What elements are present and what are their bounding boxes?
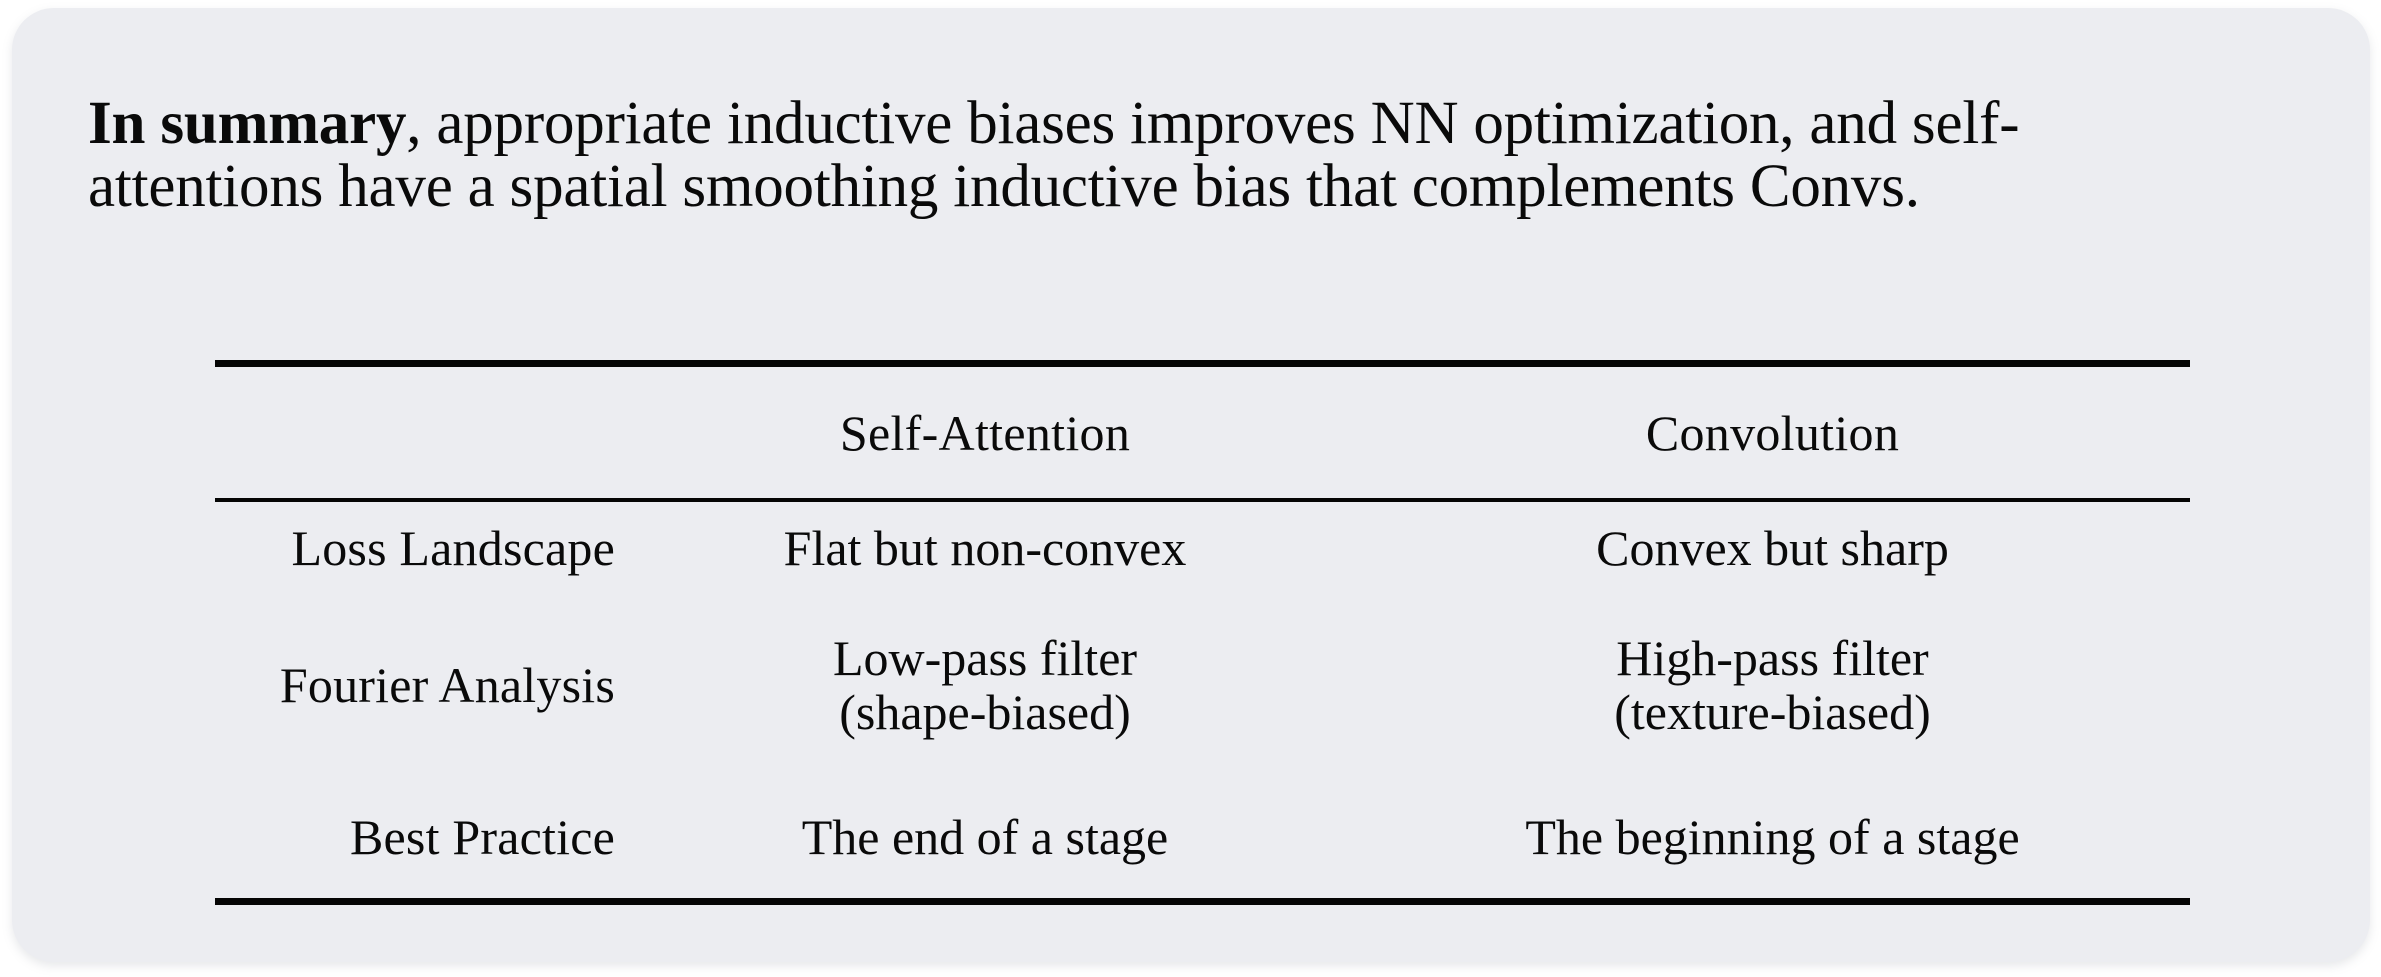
table-row: Loss Landscape Flat but non-convex Conve… bbox=[215, 500, 2190, 594]
row-label-best-practice: Best Practice bbox=[215, 776, 615, 902]
cell-sub-text: (shape-biased) bbox=[615, 685, 1355, 739]
table-bottom-rule-cell bbox=[215, 902, 615, 906]
summary-paragraph: In summary, appropriate inductive biases… bbox=[88, 93, 2138, 219]
comparison-table: Self-Attention Convolution Loss Landscap… bbox=[215, 360, 2190, 905]
column-header-self-attention: Self-Attention bbox=[615, 364, 1355, 501]
table-header: Self-Attention Convolution bbox=[215, 364, 2190, 501]
table-row: Best Practice The end of a stage The beg… bbox=[215, 776, 2190, 902]
table-bottom-rule bbox=[215, 902, 2190, 906]
table-bottom-rule-cell bbox=[1355, 902, 2190, 906]
cell-loss-landscape-self-attention: Flat but non-convex bbox=[615, 500, 1355, 594]
cell-fourier-analysis-self-attention: Low-pass filter (shape-biased) bbox=[615, 594, 1355, 776]
column-header-convolution: Convolution bbox=[1355, 364, 2190, 501]
column-header-blank bbox=[215, 364, 615, 501]
cell-main-text: Low-pass filter bbox=[833, 630, 1137, 686]
cell-best-practice-convolution: The beginning of a stage bbox=[1355, 776, 2190, 902]
cell-main-text: High-pass filter bbox=[1616, 630, 1928, 686]
table-header-row: Self-Attention Convolution bbox=[215, 364, 2190, 501]
cell-sub-text: (texture-biased) bbox=[1355, 685, 2190, 739]
row-label-fourier-analysis: Fourier Analysis bbox=[215, 594, 615, 776]
figure-card: In summary, appropriate inductive biases… bbox=[12, 8, 2370, 962]
cell-loss-landscape-convolution: Convex but sharp bbox=[1355, 500, 2190, 594]
row-label-loss-landscape: Loss Landscape bbox=[215, 500, 615, 594]
cell-fourier-analysis-convolution: High-pass filter (texture-biased) bbox=[1355, 594, 2190, 776]
table-body: Loss Landscape Flat but non-convex Conve… bbox=[215, 500, 2190, 905]
table-row: Fourier Analysis Low-pass filter (shape-… bbox=[215, 594, 2190, 776]
summary-lead: In summary bbox=[88, 90, 406, 157]
cell-best-practice-self-attention: The end of a stage bbox=[615, 776, 1355, 902]
table-bottom-rule-cell bbox=[615, 902, 1355, 906]
